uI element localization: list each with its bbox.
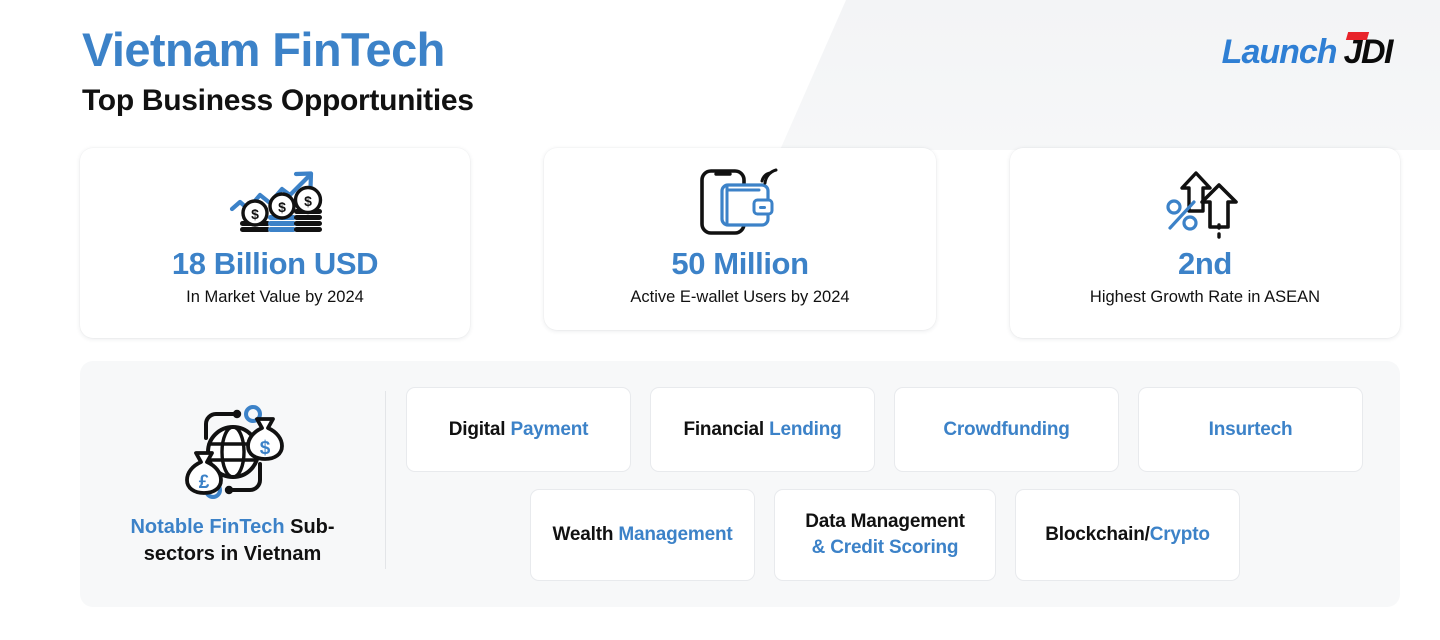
svg-text:$: $ [304, 193, 312, 209]
brand-logo[interactable]: Launch JDI [1222, 30, 1392, 74]
stat-card-growth-rank: 2nd Highest Growth Rate in ASEAN [1010, 148, 1400, 338]
chip-highlight: Management [618, 524, 732, 545]
stat-label: Active E-wallet Users by 2024 [630, 288, 849, 308]
stat-value: 2nd [1178, 247, 1232, 281]
svg-text:$: $ [259, 438, 270, 459]
subsectors-heading-block: $ £ Notable FinTech Sub-sectors in Vietn… [80, 361, 385, 607]
subsector-chip-financial-lending[interactable]: Financial Lending [650, 387, 875, 472]
chip-label: Wealth Management [553, 522, 733, 548]
stat-value: 50 Million [671, 247, 808, 281]
stat-cards-row: $ $ [80, 148, 1400, 346]
chip-lead: Wealth [553, 524, 619, 545]
chip-row-2: Wealth Management Data Management & Cred… [406, 489, 1378, 581]
growth-arrows-percent-icon [1162, 165, 1248, 239]
subsector-chip-wealth-management[interactable]: Wealth Management [530, 489, 755, 581]
stat-card-market-value: $ $ [80, 148, 470, 338]
logo-launch-text: Launch [1222, 35, 1337, 69]
chip-lead: Financial [683, 419, 769, 440]
subsector-chip-data-management-credit-scoring[interactable]: Data Management & Credit Scoring [774, 489, 996, 581]
chip-highlight: Lending [769, 419, 841, 440]
global-money-network-icon: $ £ [174, 396, 292, 508]
chip-label: Digital Payment [449, 417, 589, 443]
subsectors-chip-grid: Digital Payment Financial Lending Crowdf… [386, 361, 1400, 607]
subsectors-heading: Notable FinTech Sub-sectors in Vietnam [108, 514, 358, 568]
stat-card-ewallet-users: 50 Million Active E-wallet Users by 2024 [544, 148, 936, 330]
subsectors-heading-highlight: Notable FinTech [130, 516, 284, 538]
chip-line-2: & Credit Scoring [805, 535, 965, 561]
svg-text:£: £ [198, 472, 209, 493]
svg-text:$: $ [251, 206, 259, 222]
mobile-wallet-icon [694, 165, 786, 239]
svg-text:$: $ [278, 199, 286, 215]
chip-lead: Blockchain/ [1045, 524, 1149, 545]
infographic-page: Vietnam FinTech Top Business Opportuniti… [0, 0, 1440, 640]
chip-row-1: Digital Payment Financial Lending Crowdf… [406, 387, 1378, 472]
title-block: Vietnam FinTech Top Business Opportuniti… [82, 24, 474, 119]
subsector-chip-insurtech[interactable]: Insurtech [1138, 387, 1363, 472]
chip-lead: Digital [449, 419, 511, 440]
growth-chart-coins-icon: $ $ [226, 165, 324, 239]
chip-highlight: Crypto [1150, 524, 1210, 545]
chip-label: Data Management & Credit Scoring [805, 509, 965, 560]
subsector-chip-crowdfunding[interactable]: Crowdfunding [894, 387, 1119, 472]
chip-label: Financial Lending [683, 417, 841, 443]
subsector-chip-blockchain-crypto[interactable]: Blockchain/Crypto [1015, 489, 1240, 581]
stat-label: In Market Value by 2024 [186, 288, 364, 308]
logo-accent-dash-icon [1345, 32, 1368, 40]
page-subtitle: Top Business Opportunities [82, 83, 474, 119]
chip-line-1: Data Management [805, 509, 965, 535]
chip-label: Crowdfunding [943, 417, 1069, 443]
chip-highlight: Payment [510, 419, 588, 440]
header: Vietnam FinTech Top Business Opportuniti… [0, 0, 1440, 148]
subsectors-panel: $ £ Notable FinTech Sub-sectors in Vietn… [80, 361, 1400, 607]
chip-highlight: Insurtech [1209, 419, 1293, 440]
logo-jdi-wrap: JDI [1344, 35, 1392, 69]
chip-label: Insurtech [1209, 417, 1293, 443]
page-title: Vietnam FinTech [82, 24, 474, 77]
stat-value: 18 Billion USD [172, 247, 378, 281]
chip-highlight: Crowdfunding [943, 419, 1069, 440]
chip-label: Blockchain/Crypto [1045, 522, 1209, 548]
subsector-chip-digital-payment[interactable]: Digital Payment [406, 387, 631, 472]
stat-label: Highest Growth Rate in ASEAN [1090, 288, 1320, 308]
